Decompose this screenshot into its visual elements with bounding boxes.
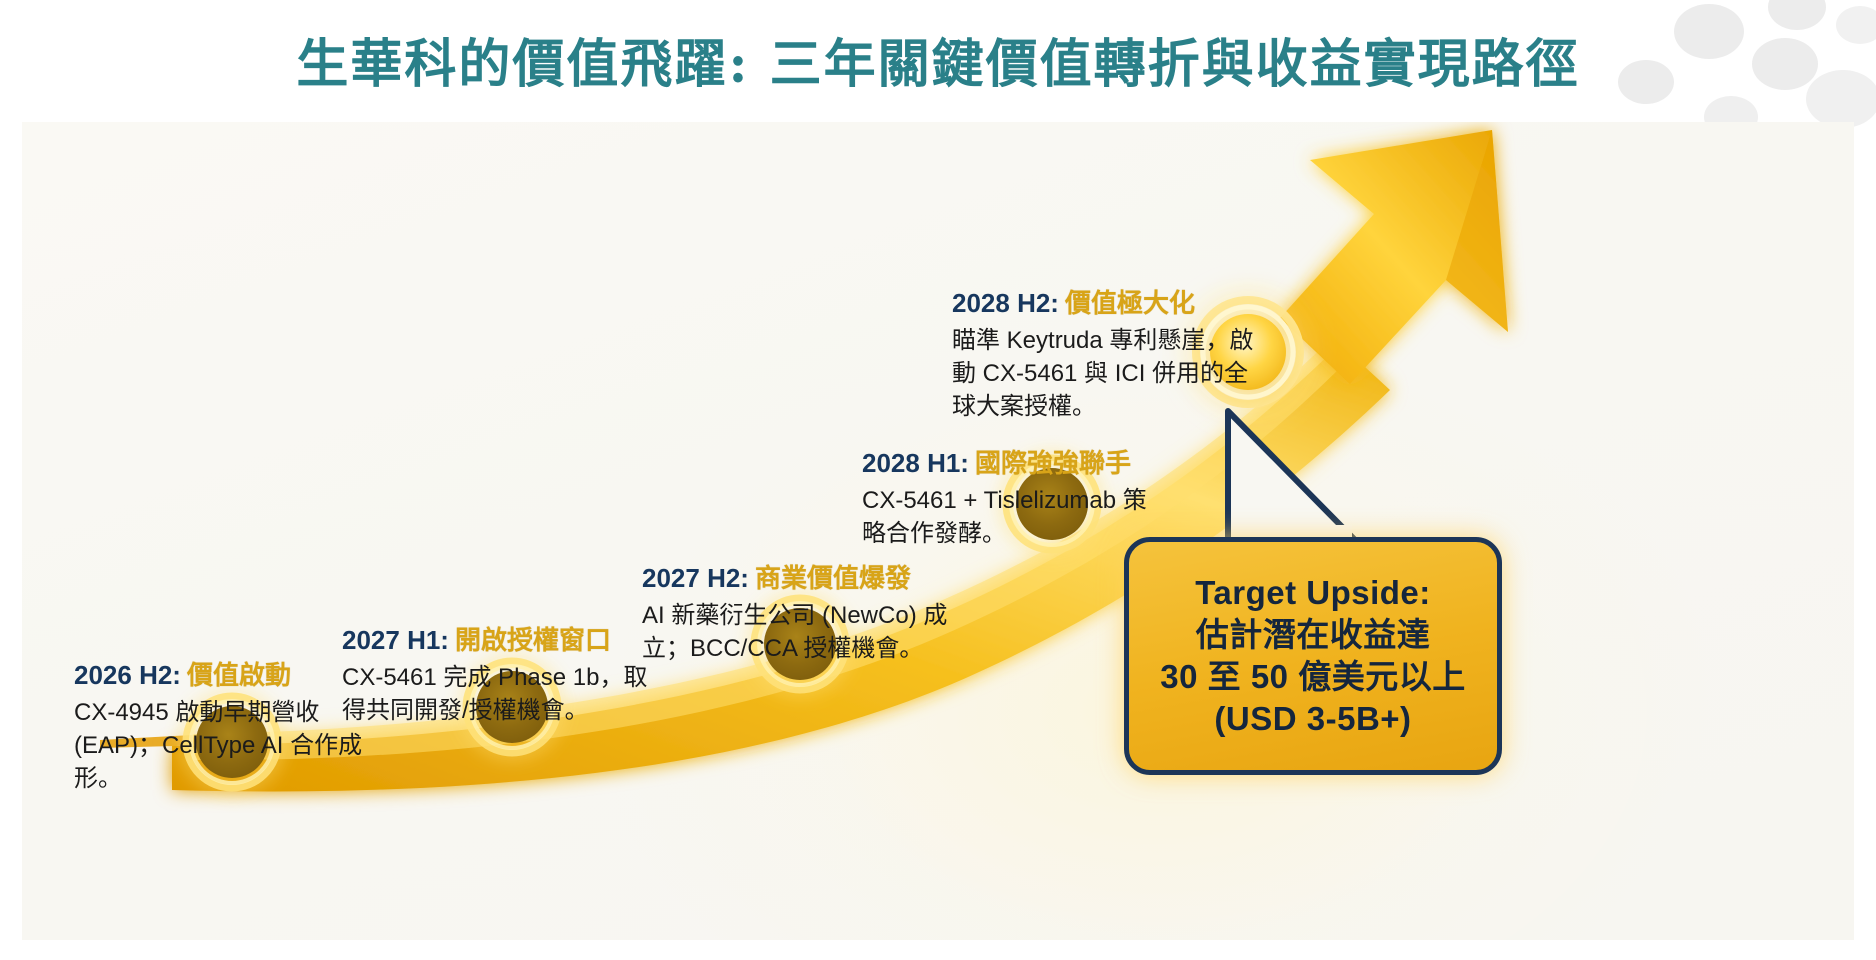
milestone-block-4: 2028 H1:國際強強聯手 CX-5461 + Tislelizumab 策略…	[862, 447, 1162, 550]
milestone-block-2: 2027 H1:開啟授權窗口 CX-5461 完成 Phase 1b，取得共同開…	[342, 624, 662, 727]
milestone-body: CX-5461 完成 Phase 1b，取得共同開發/授權機會。	[342, 661, 662, 727]
target-upside-callout[interactable]: Target Upside: 估計潛在收益達 30 至 50 億美元以上 (US…	[1124, 537, 1502, 775]
milestone-title: 開啟授權窗口	[455, 625, 611, 655]
callout-line-2: 估計潛在收益達	[1160, 614, 1465, 656]
page-title: 生華科的價值飛躍: 三年關鍵價值轉折與收益實現路徑	[0, 22, 1876, 97]
milestone-heading: 2027 H2:商業價值爆發	[642, 562, 982, 595]
milestone-title: 國際強強聯手	[975, 448, 1131, 478]
callout-pointer	[1222, 405, 1362, 545]
milestone-title: 價值啟動	[187, 660, 291, 690]
roadmap-panel: Target Upside: 估計潛在收益達 30 至 50 億美元以上 (US…	[22, 122, 1854, 940]
arrow-head	[1280, 130, 1508, 384]
milestone-block-1: 2026 H2:價值啟動 CX-4945 啟動早期營收 (EAP)；CellTy…	[74, 659, 374, 795]
milestone-heading: 2028 H1:國際強強聯手	[862, 447, 1162, 480]
target-upside-text: Target Upside: 估計潛在收益達 30 至 50 億美元以上 (US…	[1160, 572, 1465, 741]
milestone-heading: 2027 H1:開啟授權窗口	[342, 624, 662, 657]
milestone-title: 商業價值爆發	[755, 563, 911, 593]
milestone-date: 2026 H2:	[74, 660, 181, 690]
milestone-date: 2028 H1:	[862, 448, 969, 478]
callout-line-3: 30 至 50 億美元以上	[1160, 656, 1465, 698]
milestone-body: AI 新藥衍生公司 (NewCo) 成立；BCC/CCA 授權機會。	[642, 599, 982, 665]
milestone-heading: 2028 H2:價值極大化	[952, 287, 1272, 320]
bottom-strip	[0, 940, 1876, 960]
milestone-block-3: 2027 H2:商業價值爆發 AI 新藥衍生公司 (NewCo) 成立；BCC/…	[642, 562, 982, 665]
callout-line-1: Target Upside:	[1160, 572, 1465, 614]
milestone-heading: 2026 H2:價值啟動	[74, 659, 374, 692]
milestone-block-5: 2028 H2:價值極大化 瞄準 Keytruda 專利懸崖，啟動 CX-546…	[952, 287, 1272, 423]
milestone-date: 2027 H1:	[342, 625, 449, 655]
callout-line-4: (USD 3-5B+)	[1160, 698, 1465, 740]
milestone-date: 2027 H2:	[642, 563, 749, 593]
milestone-body: CX-5461 + Tislelizumab 策略合作發酵。	[862, 484, 1162, 550]
milestone-body: CX-4945 啟動早期營收 (EAP)；CellType AI 合作成形。	[74, 696, 374, 795]
milestone-title: 價值極大化	[1065, 288, 1195, 318]
milestone-date: 2028 H2:	[952, 288, 1059, 318]
